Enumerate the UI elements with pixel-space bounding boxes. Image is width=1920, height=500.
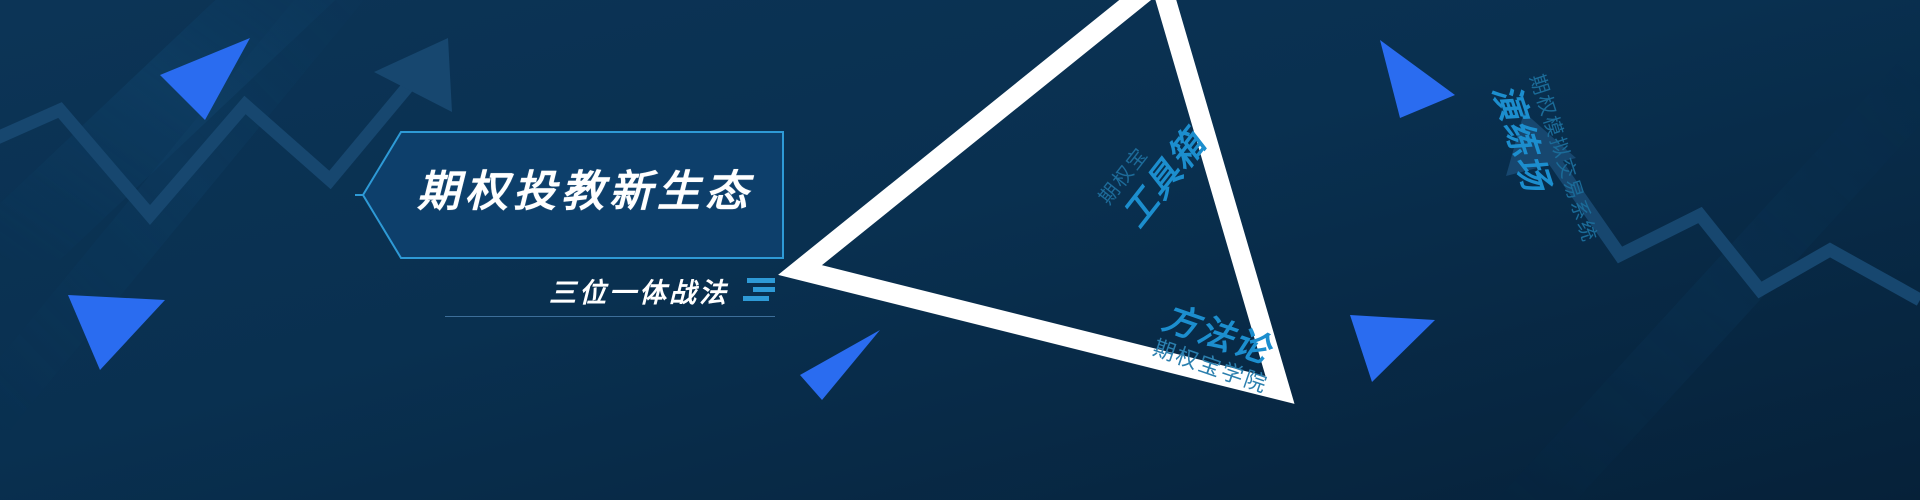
banner-root: 期权投教新生态 三位一体战法 期权宝 工具箱 期权模拟交易系统 演练场 方法论 … — [0, 0, 1920, 500]
title-block: 期权投教新生态 三位一体战法 — [355, 130, 785, 335]
triangle-diagram — [760, 0, 1380, 500]
page-title: 期权投教新生态 — [417, 164, 767, 220]
subtitle-divider — [445, 316, 775, 317]
triangle-bright-bottom-left — [68, 295, 165, 370]
triangle-label-drill-ground[interactable]: 期权模拟交易系统 演练场 — [1487, 72, 1599, 258]
subtitle-text: 三位一体战法 — [549, 271, 729, 310]
triangle-bright-top-left — [160, 38, 250, 120]
subtitle-row: 三位一体战法 — [355, 258, 785, 322]
triangle-outline — [760, 0, 1380, 500]
triangle-bright-top-right — [1380, 40, 1455, 118]
